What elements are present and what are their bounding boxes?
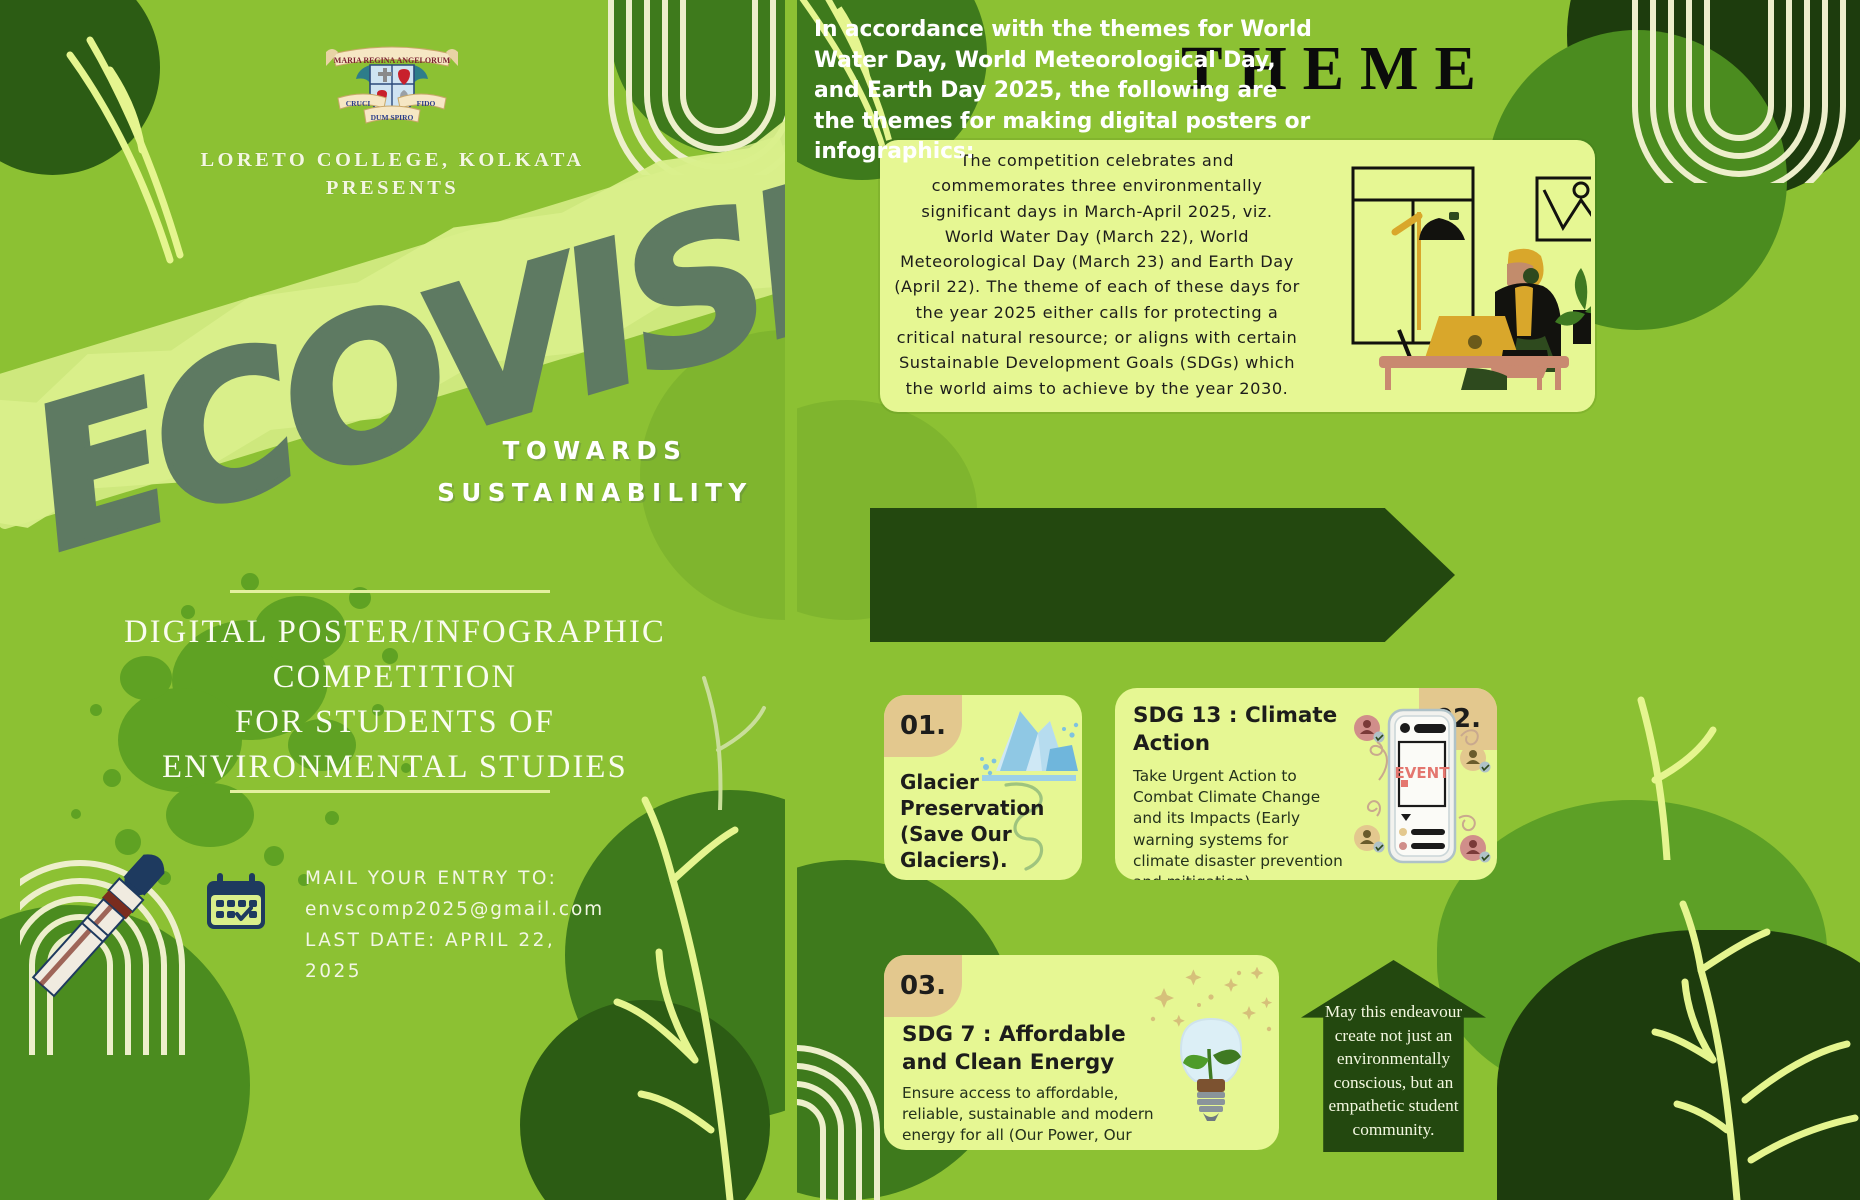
card-number-badge: 03. [884,955,962,1017]
last-date: LAST DATE: APRIL 22, 2025 [305,925,605,987]
svg-text:DUM SPIRO: DUM SPIRO [371,113,414,122]
poster-root: MARIA REGINA ANGELORUM CRUCI FIDO DUM SP… [0,0,1860,1200]
svg-text:EVENT: EVENT [1395,764,1451,782]
tagline-line-1: TOWARDS [430,430,760,472]
theme-card-02[interactable]: 02. SDG 13 : Climate Action Take Urgent … [1115,688,1497,880]
leaf-stem-right-mid [1597,640,1757,860]
divider-bottom [230,790,550,793]
subtitle-line-1: DIGITAL POSTER/INFOGRAPHIC [55,610,735,655]
theme-card-01[interactable]: 01. Glacier Preservation (Save Our Glaci… [884,695,1082,880]
card-number-badge: 01. [884,695,962,757]
theme-card-03[interactable]: 03. [884,955,1279,1150]
contact-text: MAIL YOUR ENTRY TO: envscomp2025@gmail.c… [305,863,605,987]
subtitle-line-2: COMPETITION [55,655,735,700]
svg-text:CRUCI: CRUCI [346,99,371,108]
banner-text: In accordance with the themes for World … [814,15,1314,168]
contact-email[interactable]: envscomp2025@gmail.com [305,894,605,925]
tagline-line-2: SUSTAINABILITY [430,472,760,514]
card-title: SDG 7 : Affordable and Clean Energy [902,1021,1162,1077]
theme-paragraph: The competition celebrates and commemora… [894,148,1300,401]
paintbrush-icon [0,815,200,1015]
svg-text:FIDO: FIDO [417,99,436,108]
leaf-stem-right-bottom [1617,860,1860,1200]
banner-arrow-shape [870,508,1455,642]
card-title: Glacier Preservation (Save Our Glaciers)… [900,769,1050,873]
calendar-icon [205,873,267,931]
loreto-college-crest: MARIA REGINA ANGELORUM CRUCI FIDO DUM SP… [318,32,466,132]
mail-label: MAIL YOUR ENTRY TO: [305,863,605,894]
card-title: SDG 13 : Climate Action [1133,702,1348,758]
panel-gap [785,0,797,1200]
card-body: Ensure access to affordable, reliable, s… [902,1083,1172,1150]
subtitle-line-3: FOR STUDENTS OF [55,700,735,745]
mobile-phone-event-icon: EVENT [1351,696,1493,876]
left-panel: MARIA REGINA ANGELORUM CRUCI FIDO DUM SP… [0,0,785,1200]
right-panel: THEME The competition celebrates and com… [797,0,1860,1200]
subtitle-line-4: ENVIRONMENTAL STUDIES [55,745,735,790]
svg-text:MARIA REGINA ANGELORUM: MARIA REGINA ANGELORUM [334,56,451,65]
competition-subtitle: DIGITAL POSTER/INFOGRAPHIC COMPETITION F… [55,592,735,790]
card-body: Take Urgent Action to Combat Climate Cha… [1133,766,1348,880]
person-at-desk-with-laptop-icon [1341,160,1591,390]
tagline: TOWARDS SUSTAINABILITY [430,430,760,514]
theme-description-card: The competition celebrates and commemora… [880,140,1595,412]
closing-note: May this endeavour create not just an en… [1311,1000,1476,1141]
